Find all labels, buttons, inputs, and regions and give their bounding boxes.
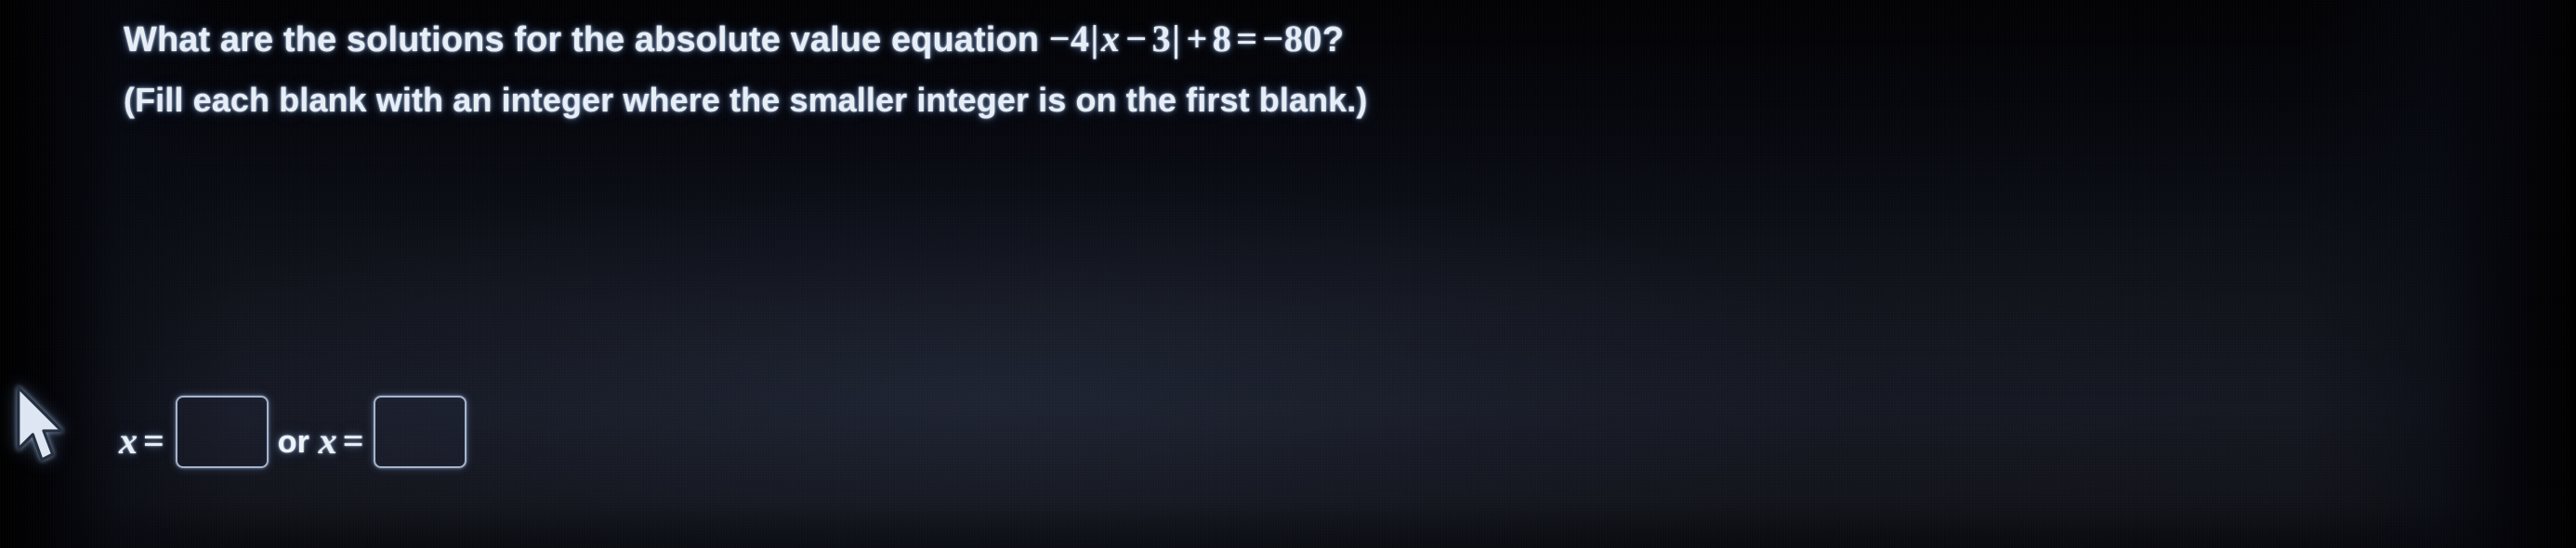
second-answer-equals: = (337, 420, 370, 462)
equation-plus-operator: + (1181, 18, 1212, 59)
second-answer-label: x= (319, 419, 370, 474)
answer-input-blank-1[interactable] (176, 396, 269, 468)
mouse-pointer-arrow-icon (13, 383, 71, 472)
screen-photo-frame: What are the solutions for the absolute … (0, 0, 2576, 548)
equation-addend: 8 (1213, 18, 1232, 59)
equation-inner-constant: 3 (1152, 18, 1172, 59)
question-line-1-suffix: ? (1322, 20, 1344, 59)
problem-content: What are the solutions for the absolute … (0, 0, 2576, 548)
first-answer-label: x= (119, 419, 170, 474)
equation-minus-operator: − (1121, 18, 1151, 59)
first-answer-variable: x (119, 420, 138, 462)
equation-coefficient: −4 (1049, 18, 1090, 59)
question-line-2-instruction: (Fill each blank with an integer where t… (124, 78, 1368, 123)
question-line-1-prefix: What are the solutions for the absolute … (124, 20, 1049, 59)
first-answer-equals: = (138, 420, 170, 462)
answer-input-blank-2[interactable] (374, 396, 467, 468)
equation-close-bar: | (1171, 18, 1181, 59)
answer-conjunction-or: or (269, 424, 319, 474)
second-answer-variable: x (319, 420, 337, 462)
equation-equals-sign: = (1231, 18, 1262, 59)
question-line-1: What are the solutions for the absolute … (124, 17, 1344, 62)
absolute-value-equation: −4|x−3|+8=−80 (1049, 18, 1322, 59)
equation-right-hand-side: −80 (1263, 18, 1322, 59)
equation-variable: x (1100, 18, 1122, 59)
answer-row: x= or x= (119, 307, 467, 474)
equation-open-bar: | (1090, 18, 1100, 59)
